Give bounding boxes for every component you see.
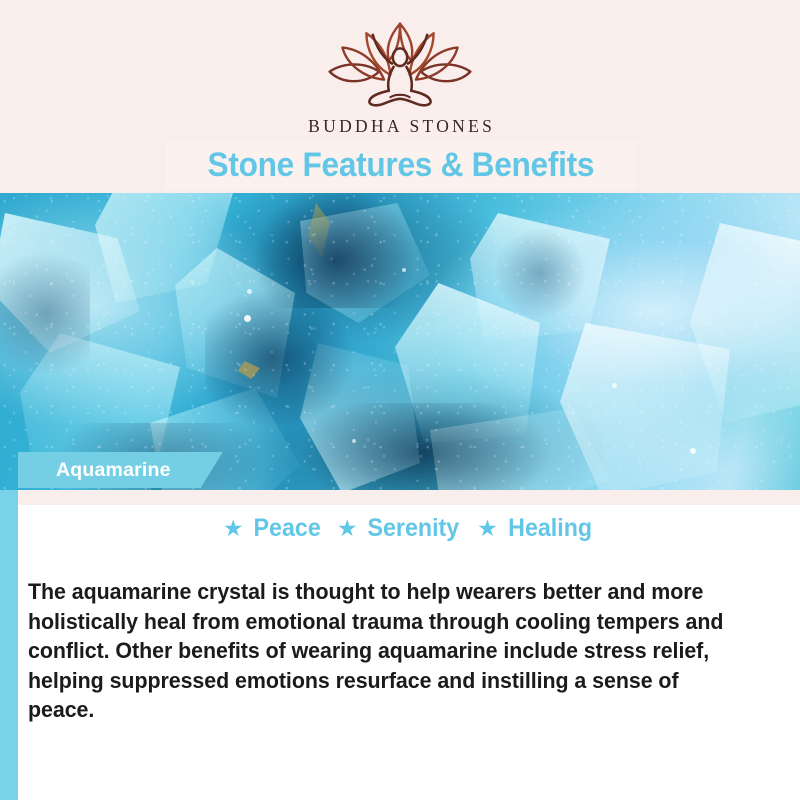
star-icon: ★ — [477, 517, 498, 540]
lotus-meditation-icon — [320, 22, 480, 110]
aquamarine-crystal-photo — [0, 193, 800, 490]
star-icon: ★ — [337, 517, 358, 540]
keyword-list: ★Peace★Serenity★Healing — [18, 514, 800, 543]
stone-description: The aquamarine crystal is thought to hel… — [28, 577, 739, 725]
decorative-band-left — [0, 478, 18, 800]
poster-canvas: BUDDHA STONES Stone Features & Benefits — [0, 0, 800, 800]
brand-logo: BUDDHA STONES — [0, 22, 800, 137]
content-area: ★Peace★Serenity★Healing The aquamarine c… — [18, 505, 800, 800]
keyword-serenity: Serenity — [368, 514, 460, 543]
page-title-banner: Stone Features & Benefits — [166, 141, 636, 189]
keyword-healing: Healing — [508, 514, 592, 543]
keyword-peace: Peace — [253, 514, 320, 543]
stone-name: Aquamarine — [56, 459, 171, 482]
brand-name: BUDDHA STONES — [0, 116, 800, 137]
photo-texture-overlay — [0, 193, 800, 490]
stone-name-tag: Aquamarine — [18, 452, 223, 488]
page-title: Stone Features & Benefits — [208, 146, 595, 185]
star-icon: ★ — [223, 517, 244, 540]
